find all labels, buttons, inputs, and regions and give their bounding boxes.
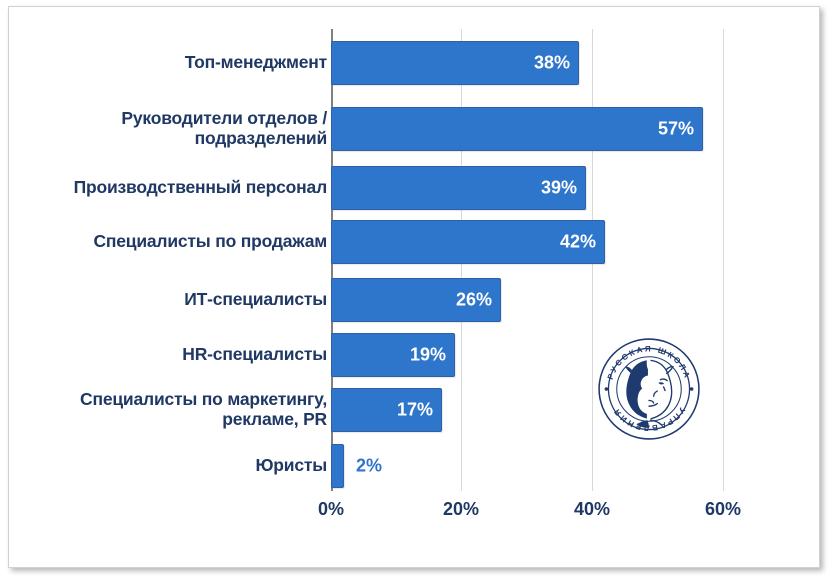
- bar[interactable]: 39%: [331, 166, 586, 210]
- category-label: Специалисты по продажам: [17, 232, 327, 252]
- bar-row: Специалисты по продажам 42%: [9, 220, 821, 264]
- bar-row: Руководители отделов / подразделений 57%: [9, 107, 821, 151]
- bar-container: 57%: [331, 107, 703, 151]
- bar-container: 38%: [331, 41, 579, 85]
- category-label: HR-специалисты: [17, 345, 327, 365]
- bar-container: 42%: [331, 220, 605, 264]
- bar[interactable]: 2%: [331, 444, 344, 488]
- x-tick-label: 20%: [443, 499, 479, 520]
- bar-value-label: 26%: [456, 290, 492, 311]
- bar-chart: Топ-менеджмент 38% Руководители отделов …: [9, 7, 821, 569]
- bar-value-label: 2%: [356, 456, 382, 477]
- bar[interactable]: 57%: [331, 107, 703, 151]
- bar-value-label: 38%: [534, 53, 570, 74]
- bar-container: 17%: [331, 388, 442, 432]
- category-label: Топ-менеджмент: [17, 53, 327, 73]
- bar[interactable]: 26%: [331, 278, 501, 322]
- bar-container: 39%: [331, 166, 586, 210]
- bar-value-label: 57%: [658, 119, 694, 140]
- bar-row: Производственный персонал 39%: [9, 166, 821, 210]
- category-label: Руководители отделов / подразделений: [17, 109, 327, 148]
- bar-container: 26%: [331, 278, 501, 322]
- bar-row: Топ-менеджмент 38%: [9, 41, 821, 85]
- bar[interactable]: 19%: [331, 333, 455, 377]
- bar[interactable]: 38%: [331, 41, 579, 85]
- bar-row: Юристы 2%: [9, 444, 821, 488]
- chart-card-frame: Топ-менеджмент 38% Руководители отделов …: [8, 6, 820, 568]
- bar[interactable]: 17%: [331, 388, 442, 432]
- bar-value-label: 39%: [541, 178, 577, 199]
- x-tick-label: 0%: [318, 499, 344, 520]
- category-label: Производственный персонал: [17, 178, 327, 198]
- bar-value-label: 42%: [560, 232, 596, 253]
- russian-school-of-management-logo: РУССКАЯ ШКОЛА УПРАВЛЕНИЯ: [597, 337, 701, 441]
- x-tick-label: 60%: [705, 499, 741, 520]
- bar-container: 2%: [331, 444, 344, 488]
- category-label: Юристы: [17, 456, 327, 476]
- bar-row: ИТ-специалисты 26%: [9, 278, 821, 322]
- bar-container: 19%: [331, 333, 455, 377]
- svg-text:УПРАВЛЕНИЯ: УПРАВЛЕНИЯ: [611, 406, 686, 433]
- x-tick-label: 40%: [574, 499, 610, 520]
- screenshot-root: Топ-менеджмент 38% Руководители отделов …: [0, 0, 832, 581]
- bar-value-label: 17%: [397, 400, 433, 421]
- bar-value-label: 19%: [410, 345, 446, 366]
- category-label: Специалисты по маркетингу, рекламе, PR: [17, 390, 327, 429]
- category-label: ИТ-специалисты: [17, 290, 327, 310]
- bar[interactable]: 42%: [331, 220, 605, 264]
